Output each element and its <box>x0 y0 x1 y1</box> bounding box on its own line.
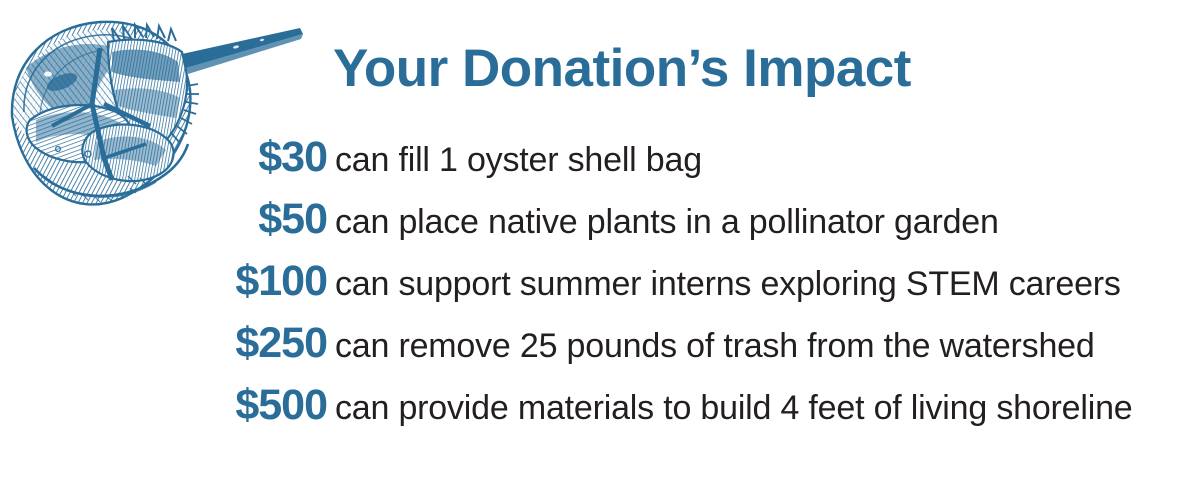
impact-row: $30 can fill 1 oyster shell bag <box>0 126 1200 188</box>
donation-impact-graphic: Your Donation’s Impact $30 can fill 1 oy… <box>0 0 1200 500</box>
impact-description: can provide materials to build 4 feet of… <box>327 377 1133 439</box>
page-title: Your Donation’s Impact <box>333 38 911 100</box>
crab-tail <box>182 28 303 74</box>
impact-description: can support summer interns exploring STE… <box>327 253 1121 315</box>
impact-amount: $100 <box>0 250 327 312</box>
impact-row: $250 can remove 25 pounds of trash from … <box>0 312 1200 374</box>
impact-amount: $30 <box>0 126 327 188</box>
impact-list: $30 can fill 1 oyster shell bag $50 can … <box>0 126 1200 436</box>
impact-amount: $500 <box>0 374 327 436</box>
impact-amount: $250 <box>0 312 327 374</box>
impact-description: can remove 25 pounds of trash from the w… <box>327 315 1095 377</box>
impact-row: $500 can provide materials to build 4 fe… <box>0 374 1200 436</box>
impact-row: $50 can place native plants in a pollina… <box>0 188 1200 250</box>
impact-description: can fill 1 oyster shell bag <box>327 129 702 191</box>
impact-description: can place native plants in a pollinator … <box>327 191 999 253</box>
impact-amount: $50 <box>0 188 327 250</box>
impact-row: $100 can support summer interns explorin… <box>0 250 1200 312</box>
